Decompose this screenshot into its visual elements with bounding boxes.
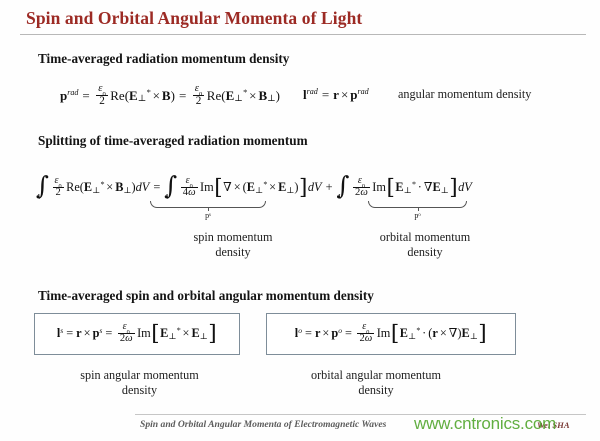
equation-radiation-momentum-density: prad = ε0 2 Re(E⊥* ×B) = ε0 2 Re(E⊥* ×B⊥… [60, 84, 280, 108]
slide-canvas: Spin and Orbital Angular Momenta of Ligh… [0, 0, 600, 441]
underbrace-label-orbital: pᵒ [414, 211, 420, 220]
underbrace-spin-momentum: pˢ [150, 201, 266, 220]
caption-orbital-angular-line2: density [282, 383, 470, 398]
boxed-equation-spin-angular-momentum: ls = r×ps = ε0 2ω Im[ E⊥* ×E⊥ ] [34, 313, 240, 355]
section-heading-3: Time-averaged spin and orbital angular m… [38, 288, 374, 304]
equation-spin-angular-momentum: ls = r×ps = ε0 2ω Im[ E⊥* ×E⊥ ] [57, 323, 217, 346]
caption-spin-angular-line2: density [57, 383, 222, 398]
watermark-cntronics: www.cntronics.com [414, 414, 556, 434]
underbrace-shape-spin [150, 201, 266, 208]
caption-orbital-momentum-line2: density [355, 245, 495, 260]
caption-spin-momentum-line1: spin momentum [168, 230, 298, 245]
section-heading-2: Splitting of time-averaged radiation mom… [38, 133, 308, 149]
title-divider [20, 34, 586, 35]
underbrace-shape-orbital [368, 201, 467, 208]
footer-title: Spin and Orbital Angular Momenta of Elec… [140, 419, 386, 430]
caption-orbital-angular-momentum-density: orbital angular momentum density [282, 368, 470, 398]
caption-spin-momentum-line2: density [168, 245, 298, 260]
underbrace-label-spin: pˢ [205, 211, 211, 220]
underbrace-orbital-momentum: pᵒ [368, 201, 467, 220]
caption-orbital-momentum-density: orbital momentum density [355, 230, 495, 260]
equation-momentum-splitting: ∫V ε0 2 Re(E⊥* ×B⊥)dV = ∫V ε0 4ω Im[ ∇×(… [36, 176, 472, 200]
section-heading-1: Time-averaged radiation momentum density [38, 51, 289, 67]
caption-spin-angular-momentum-density: spin angular momentum density [57, 368, 222, 398]
caption-orbital-momentum-line1: orbital momentum [355, 230, 495, 245]
angular-momentum-density-note: angular momentum density [398, 87, 578, 102]
equation-orbital-angular-momentum: lo = r×po = ε0 2ω Im[ E⊥* · (r×∇) E⊥ ] [295, 323, 487, 346]
page-title: Spin and Orbital Angular Momenta of Ligh… [26, 8, 362, 29]
equation-angular-momentum-density: lrad = r×prad [303, 87, 369, 103]
caption-orbital-angular-line1: orbital angular momentum [282, 368, 470, 383]
boxed-equation-orbital-angular-momentum: lo = r×po = ε0 2ω Im[ E⊥* · (r×∇) E⊥ ] [266, 313, 516, 355]
caption-spin-momentum-density: spin momentum density [168, 230, 298, 260]
caption-spin-angular-line1: spin angular momentum [57, 368, 222, 383]
